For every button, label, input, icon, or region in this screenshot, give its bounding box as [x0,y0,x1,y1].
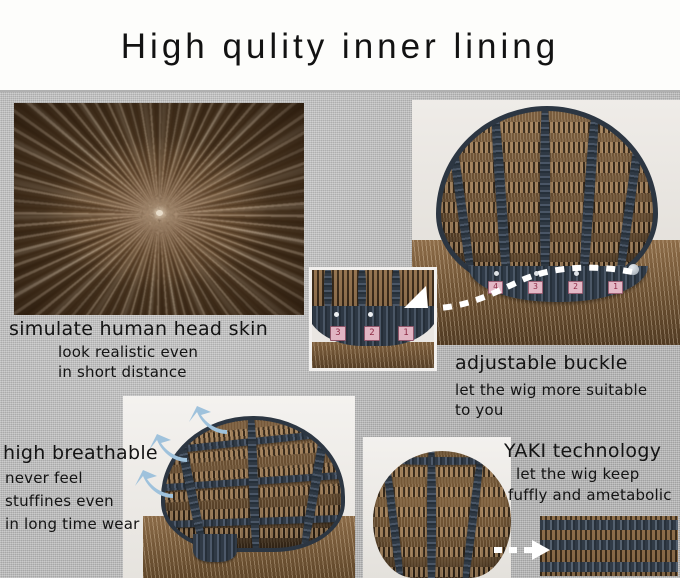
inset-number-tag: 1 [398,326,414,341]
buckle-sub-line-2: to you [455,401,504,419]
crown-vignette [14,103,304,315]
airflow-arrow-icon [131,468,177,504]
crown-sub-line-1: look realistic even [58,343,198,361]
wig-cap-back-photo: 4 3 2 1 [412,100,680,345]
yaki-sub-line-1: let the wig keep [516,465,640,483]
hair-crown-photo [14,103,304,315]
inset-number-tag: 3 [330,326,346,341]
header-banner: High qulity inner lining [0,0,680,92]
yaki-dome [373,451,511,578]
breathable-tab [193,534,237,562]
strap-number-tag: 3 [528,281,543,294]
breathable-sub-line-1: never feel [5,469,83,487]
buckle-heading: adjustable buckle [455,352,628,374]
breathable-heading: high breathable [3,442,158,464]
strap-number-tag: 1 [608,281,623,294]
breathable-sub-line-3: in long time wear [5,515,140,533]
weft-closeup-photo [540,516,678,576]
page-title: High qulity inner lining [0,27,680,67]
strap-number-tag: 4 [488,281,503,294]
airflow-arrow-icon [185,404,231,440]
buckle-closeup-inset: 3 2 1 [312,270,434,368]
yaki-sub-line-2: fuffly and ametabolic [508,486,672,504]
yaki-heading: YAKI technology [504,440,661,462]
crown-heading: simulate human head skin [9,318,268,340]
breathable-sub-line-2: stuffines even [5,492,114,510]
infographic-page: High qulity inner lining [0,0,680,578]
buckle-knob [628,264,639,275]
buckle-sub-line-1: let the wig more suitable [455,381,647,399]
inset-number-tag: 2 [364,326,380,341]
wig-cap-top-photo [363,437,511,578]
wig-cap-breathable-photo [123,396,355,578]
inset-strap-band: 3 2 1 [312,306,434,346]
crown-sub-line-2: in short distance [58,363,187,381]
strap-number-tag: 2 [568,281,583,294]
